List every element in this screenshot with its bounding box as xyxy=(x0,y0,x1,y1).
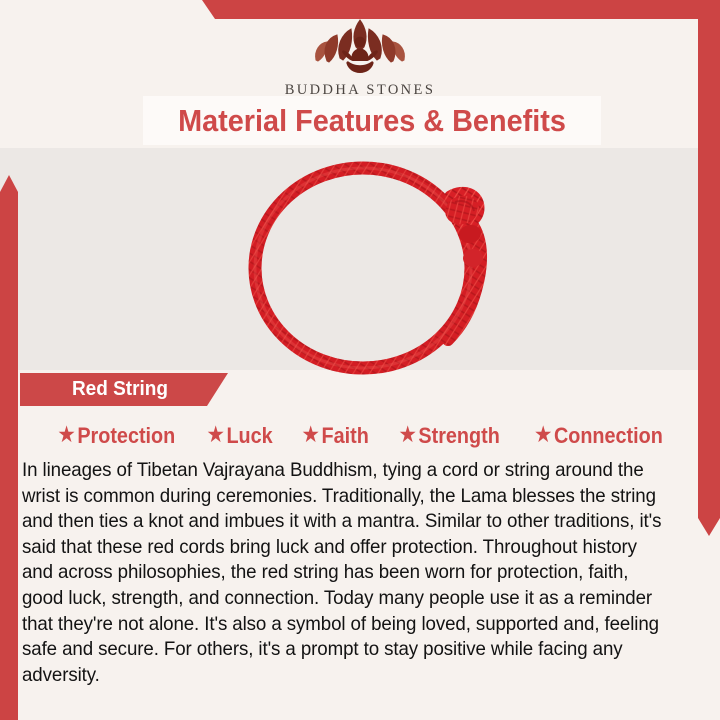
benefit-item-luck: ★ Luck xyxy=(208,423,273,449)
star-icon: ★ xyxy=(535,425,551,445)
benefit-item-strength: ★ Strength xyxy=(400,423,500,449)
benefit-label: Faith xyxy=(321,423,368,449)
infographic-canvas: BUDDHA STONES Material Features & Benefi… xyxy=(0,0,720,720)
benefit-item-protection: ★ Protection xyxy=(58,423,175,449)
benefit-label: Connection xyxy=(554,423,663,449)
product-name-label: Red String xyxy=(25,373,215,406)
benefit-label: Strength xyxy=(419,423,500,449)
star-icon: ★ xyxy=(400,425,416,445)
star-icon: ★ xyxy=(302,425,318,445)
benefit-item-connection: ★ Connection xyxy=(535,423,663,449)
benefits-row: ★ Protection ★ Luck ★ Faith ★ Strength ★… xyxy=(22,418,698,454)
star-icon: ★ xyxy=(208,425,224,445)
description-paragraph: In lineages of Tibetan Vajrayana Buddhis… xyxy=(22,458,670,688)
star-icon: ★ xyxy=(58,425,74,445)
red-braided-string-bracelet-image xyxy=(236,158,506,376)
page-title: Material Features & Benefits xyxy=(159,96,585,145)
brand-logo: BUDDHA STONES xyxy=(0,16,720,99)
benefit-label: Protection xyxy=(77,423,175,449)
lotus-meditation-icon xyxy=(294,16,426,80)
benefit-label: Luck xyxy=(226,423,272,449)
product-name-banner: Red String xyxy=(20,373,228,406)
benefit-item-faith: ★ Faith xyxy=(302,423,368,449)
